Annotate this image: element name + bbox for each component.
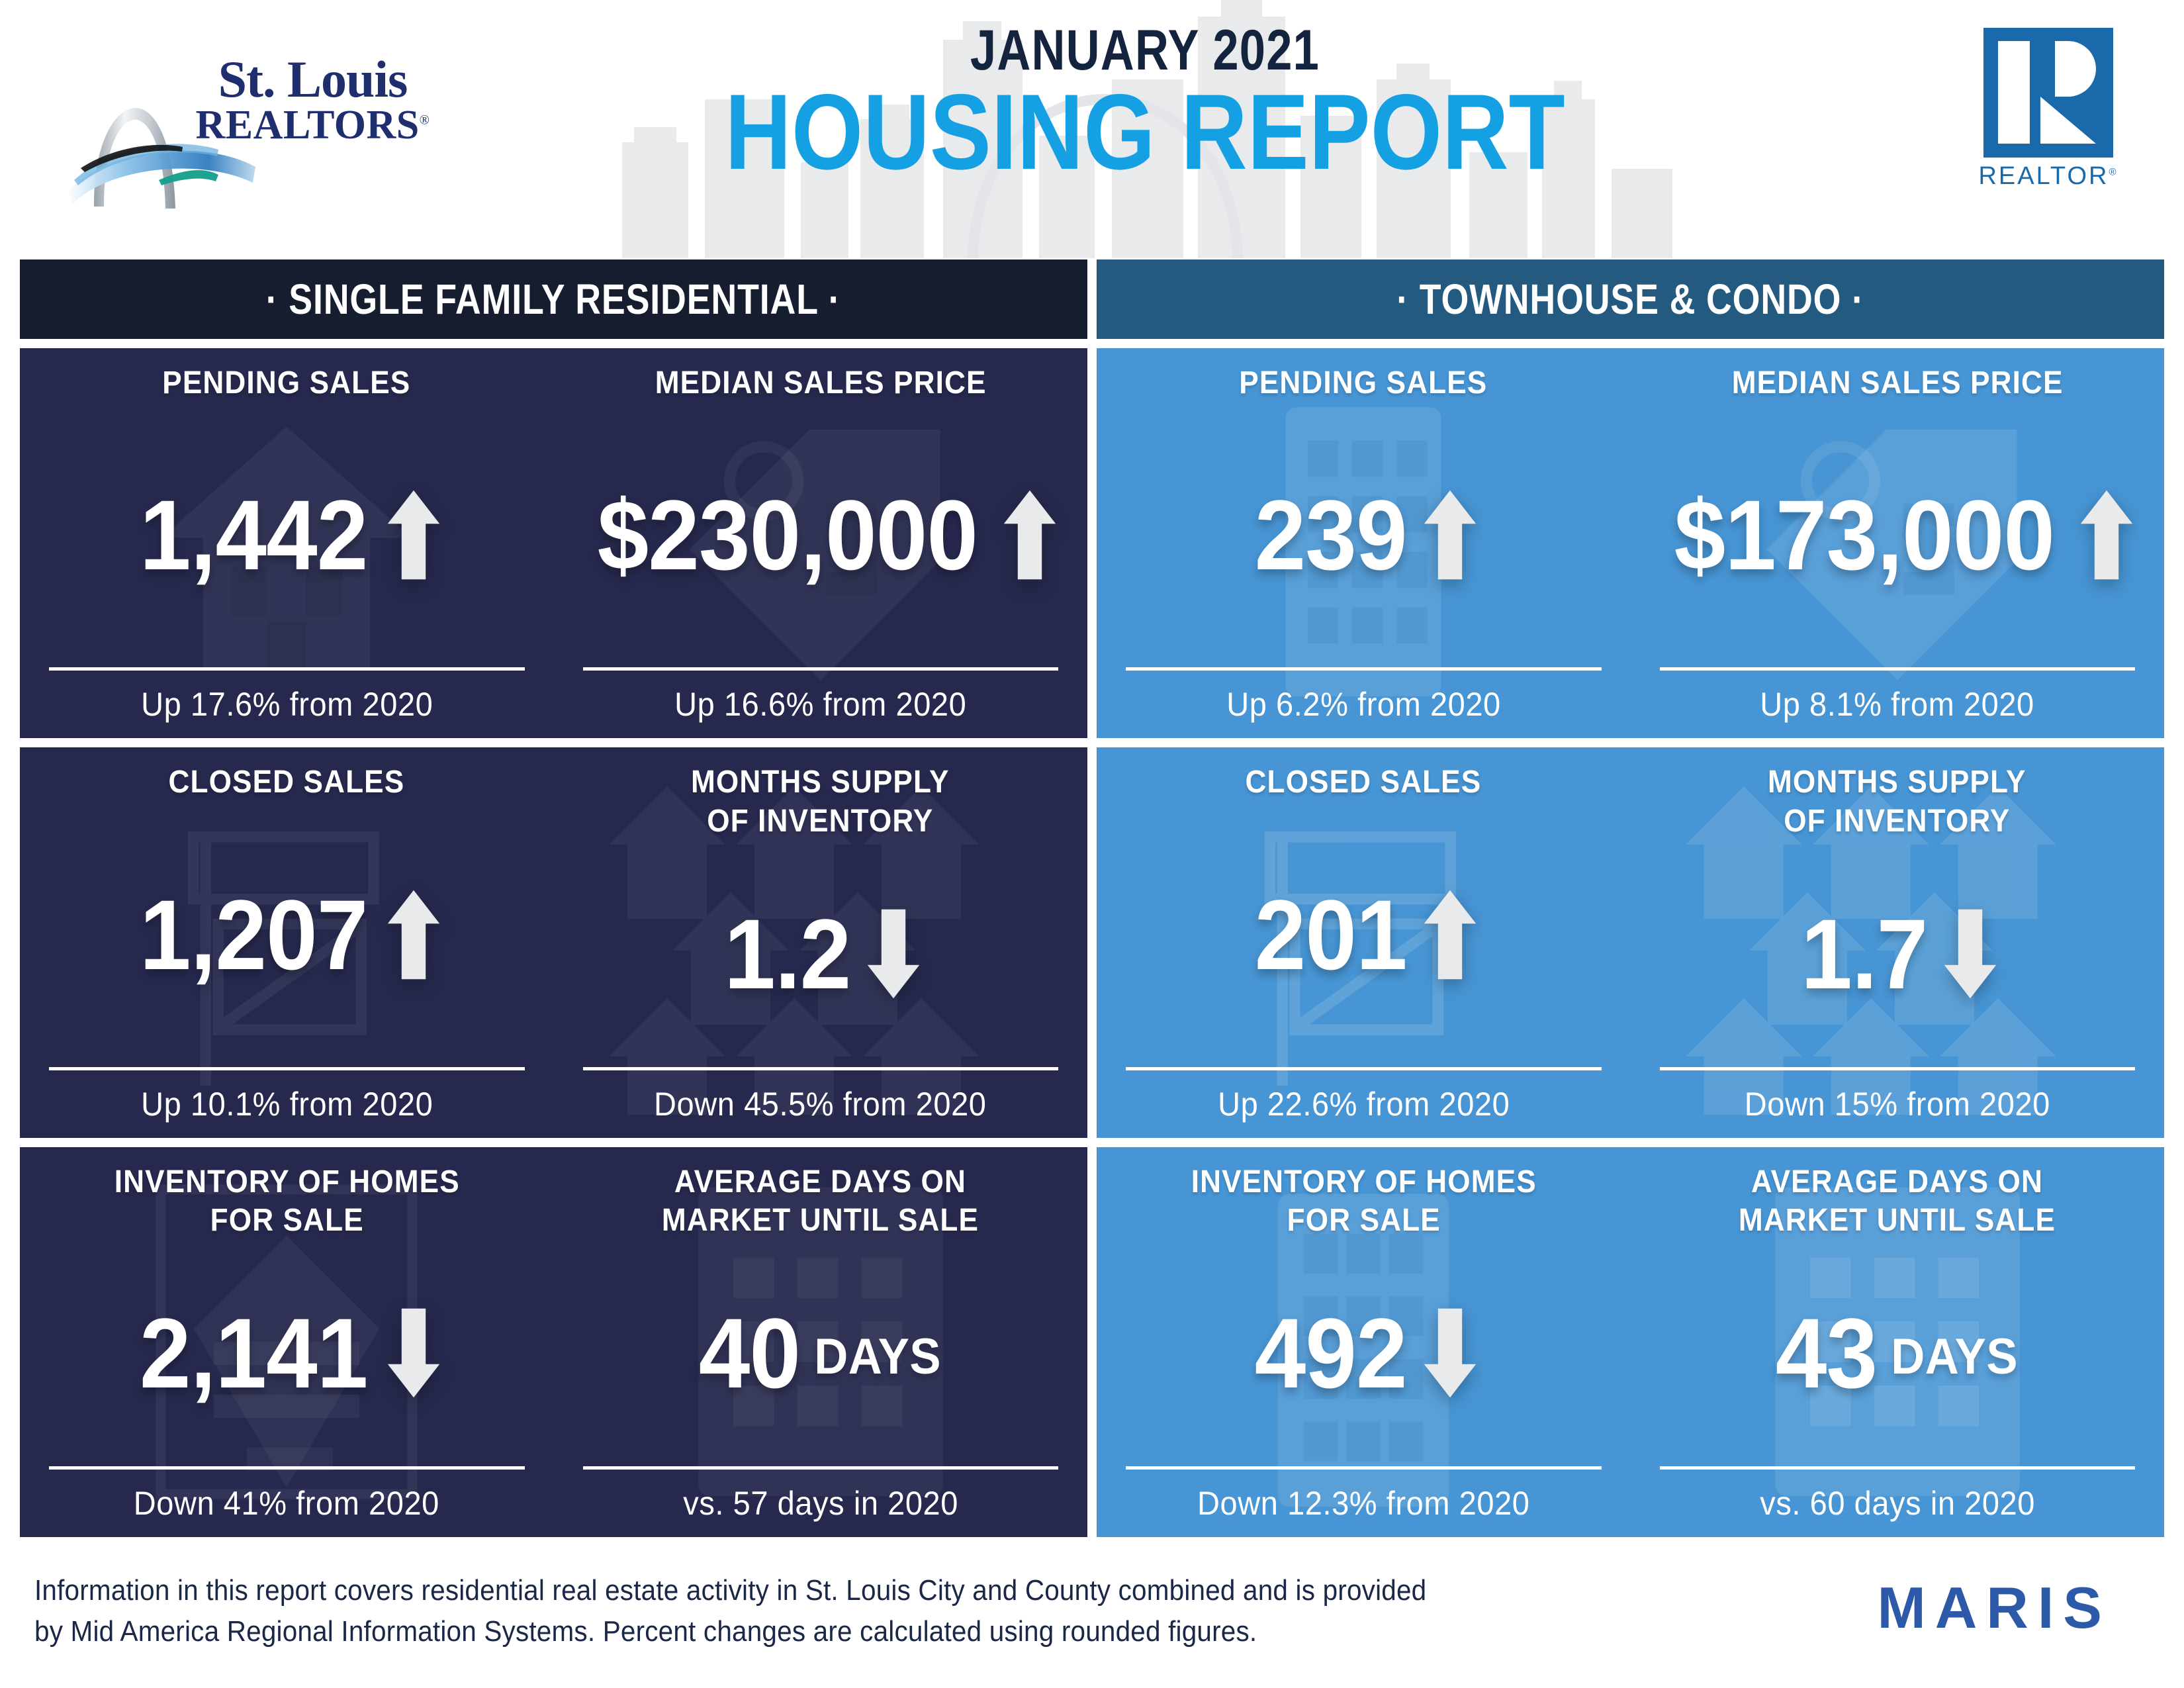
metric-card-sfr-months-supply: MONTHS SUPPLY OF INVENTORY 1.2 Down 45.5… — [554, 747, 1088, 1137]
metric-card-sfr-closed-sales: CLOSED SALES 1,207 Up 10.1% from 2020 — [20, 747, 554, 1137]
divider-line — [1660, 1067, 2136, 1070]
metric-value-row: 492 — [1126, 1241, 1602, 1466]
metric-value: 40 — [699, 1303, 800, 1403]
metric-value-row: 40 DAYS — [583, 1241, 1059, 1466]
footer-disclaimer: Information in this report covers reside… — [34, 1570, 1623, 1653]
registered-mark: ® — [420, 113, 430, 128]
metric-change: vs. 60 days in 2020 — [1760, 1487, 2035, 1524]
arrow-down-icon — [865, 908, 922, 1000]
realtor-r-mark-icon — [1983, 28, 2113, 158]
metric-card-tc-median-sales-price: MEDIAN SALES PRICE $173,000 Up 8.1% from… — [1631, 348, 2165, 738]
divider-line — [1126, 1067, 1602, 1070]
metric-value: 2,141 — [140, 1303, 367, 1403]
divider-line — [49, 1466, 525, 1470]
metric-label: CLOSED SALES — [158, 763, 415, 802]
row-divider — [20, 1138, 2164, 1147]
metric-card-tc-pending-sales: PENDING SALES 239 Up 6.2% from 2020 — [1097, 348, 1631, 738]
divider-line — [1126, 667, 1602, 671]
metric-label: INVENTORY OF HOMES FOR SALE — [99, 1163, 475, 1241]
divider-line — [583, 1466, 1059, 1470]
disclaimer-line-1: Information in this report covers reside… — [34, 1570, 1426, 1611]
metric-unit: DAYS — [814, 1332, 941, 1382]
metric-card-tc-inventory: INVENTORY OF HOMES FOR SALE 492 Down 12.… — [1097, 1147, 1631, 1537]
report-header: St. Louis REALTORS® JANUARY 2021 HOUSING… — [0, 0, 2184, 258]
arrow-down-icon — [1942, 908, 1999, 1000]
metric-label: MEDIAN SALES PRICE — [1717, 364, 2077, 403]
metric-change: Down 15% from 2020 — [1745, 1088, 2050, 1125]
metric-change: Up 8.1% from 2020 — [1760, 688, 2034, 725]
metric-label: AVERAGE DAYS ON MARKET UNTIL SALE — [1725, 1163, 2070, 1241]
metric-value-row: 1,442 — [49, 403, 525, 668]
st-louis-realtors-logo: St. Louis REALTORS® — [60, 26, 430, 218]
metrics-board: · SINGLE FAMILY RESIDENTIAL · · TOWNHOUS… — [20, 259, 2164, 1537]
metric-value-row: 201 — [1126, 802, 1602, 1067]
arrow-up-icon — [2078, 489, 2135, 581]
metric-label: MONTHS SUPPLY OF INVENTORY — [1756, 763, 2038, 841]
divider-line — [583, 667, 1059, 671]
metric-value: 1,442 — [140, 485, 367, 585]
divider-line — [583, 1067, 1059, 1070]
arrow-up-icon — [385, 489, 442, 581]
divider-line — [49, 1067, 525, 1070]
metric-change: Up 22.6% from 2020 — [1218, 1088, 1510, 1125]
metric-value: 239 — [1254, 485, 1406, 585]
stl-logo-line2: REALTORS® — [196, 105, 430, 146]
metric-value-row: 1.7 — [1660, 841, 2136, 1066]
divider-line — [1126, 1466, 1602, 1470]
metric-label: PENDING SALES — [1228, 364, 1498, 403]
metric-value: 43 — [1776, 1303, 1877, 1403]
realtor-logo: REALTOR® — [1972, 28, 2124, 191]
maris-logo: MARIS — [1877, 1574, 2111, 1642]
metric-value-row: $173,000 — [1660, 403, 2136, 668]
metric-change: Up 10.1% from 2020 — [141, 1088, 433, 1125]
metric-label: INVENTORY OF HOMES FOR SALE — [1176, 1163, 1551, 1241]
metric-value-row: 43 DAYS — [1660, 1241, 2136, 1466]
metric-card-sfr-inventory: INVENTORY OF HOMES FOR SALE 2,141 Down 4… — [20, 1147, 554, 1537]
arrow-down-icon — [385, 1307, 442, 1399]
section-header-single-family-residential: · SINGLE FAMILY RESIDENTIAL · — [20, 259, 1087, 339]
metric-change: Down 45.5% from 2020 — [655, 1088, 987, 1125]
metric-value: 1.7 — [1801, 904, 1927, 1004]
metric-label: AVERAGE DAYS ON MARKET UNTIL SALE — [648, 1163, 993, 1241]
metric-card-sfr-median-sales-price: MEDIAN SALES PRICE $230,000 Up 16.6% fro… — [554, 348, 1088, 738]
report-title-block: JANUARY 2021 HOUSING REPORT — [622, 20, 1668, 187]
section-column-divider — [1087, 1147, 1097, 1537]
metric-value-row: 1.2 — [583, 841, 1059, 1066]
realtor-wordmark: REALTOR® — [1972, 162, 2124, 191]
row-divider — [20, 339, 2164, 348]
metric-value-row: $230,000 — [583, 403, 1059, 668]
metric-value-row: 1,207 — [49, 802, 525, 1067]
arrow-up-icon — [1422, 888, 1479, 981]
section-column-divider — [1087, 259, 1097, 339]
metric-value: $230,000 — [598, 485, 978, 585]
metric-label: CLOSED SALES — [1235, 763, 1492, 802]
metric-label: MEDIAN SALES PRICE — [641, 364, 1001, 403]
metric-change: Up 6.2% from 2020 — [1226, 688, 1501, 725]
arrow-up-icon — [385, 888, 442, 981]
metric-label: PENDING SALES — [152, 364, 422, 403]
metric-value: 492 — [1254, 1303, 1406, 1403]
divider-line — [49, 667, 525, 671]
divider-line — [1660, 1466, 2136, 1470]
section-header-townhouse-condo: · TOWNHOUSE & CONDO · — [1097, 259, 2164, 339]
metric-change: Down 12.3% from 2020 — [1197, 1487, 1529, 1524]
row-divider — [20, 738, 2164, 747]
metric-card-tc-months-supply: MONTHS SUPPLY OF INVENTORY 1.7 Down 15% … — [1631, 747, 2165, 1137]
metric-change: Down 41% from 2020 — [134, 1487, 439, 1524]
metric-card-sfr-pending-sales: PENDING SALES 1,442 Up 17.6% from 2020 — [20, 348, 554, 738]
disclaimer-line-2: by Mid America Regional Information Syst… — [34, 1611, 1257, 1652]
section-column-divider — [1087, 747, 1097, 1137]
report-title: HOUSING REPORT — [696, 77, 1595, 187]
metric-card-tc-avg-days: AVERAGE DAYS ON MARKET UNTIL SALE 43 DAY… — [1631, 1147, 2165, 1537]
report-footer: Information in this report covers reside… — [0, 1542, 2184, 1688]
metric-change: vs. 57 days in 2020 — [683, 1487, 958, 1524]
metric-card-tc-closed-sales: CLOSED SALES 201 Up 22.6% from 2020 — [1097, 747, 1631, 1137]
metric-card-sfr-avg-days: AVERAGE DAYS ON MARKET UNTIL SALE 40 DAY… — [554, 1147, 1088, 1537]
metric-label: MONTHS SUPPLY OF INVENTORY — [680, 763, 961, 841]
arrow-down-icon — [1422, 1307, 1479, 1399]
metric-value: 201 — [1254, 885, 1406, 984]
metric-value: 1.2 — [724, 904, 850, 1004]
arrow-up-icon — [1422, 489, 1479, 581]
divider-line — [1660, 667, 2136, 671]
arrow-up-icon — [1001, 489, 1058, 581]
metric-value-row: 239 — [1126, 403, 1602, 668]
metric-value-row: 2,141 — [49, 1241, 525, 1466]
metric-change: Up 17.6% from 2020 — [141, 688, 433, 725]
metric-unit: DAYS — [1891, 1332, 2018, 1382]
stl-logo-line1: St. Louis — [195, 54, 430, 105]
metric-value: 1,207 — [140, 885, 367, 984]
metric-value: $173,000 — [1674, 485, 2054, 585]
section-column-divider — [1087, 348, 1097, 738]
metric-change: Up 16.6% from 2020 — [674, 688, 966, 725]
